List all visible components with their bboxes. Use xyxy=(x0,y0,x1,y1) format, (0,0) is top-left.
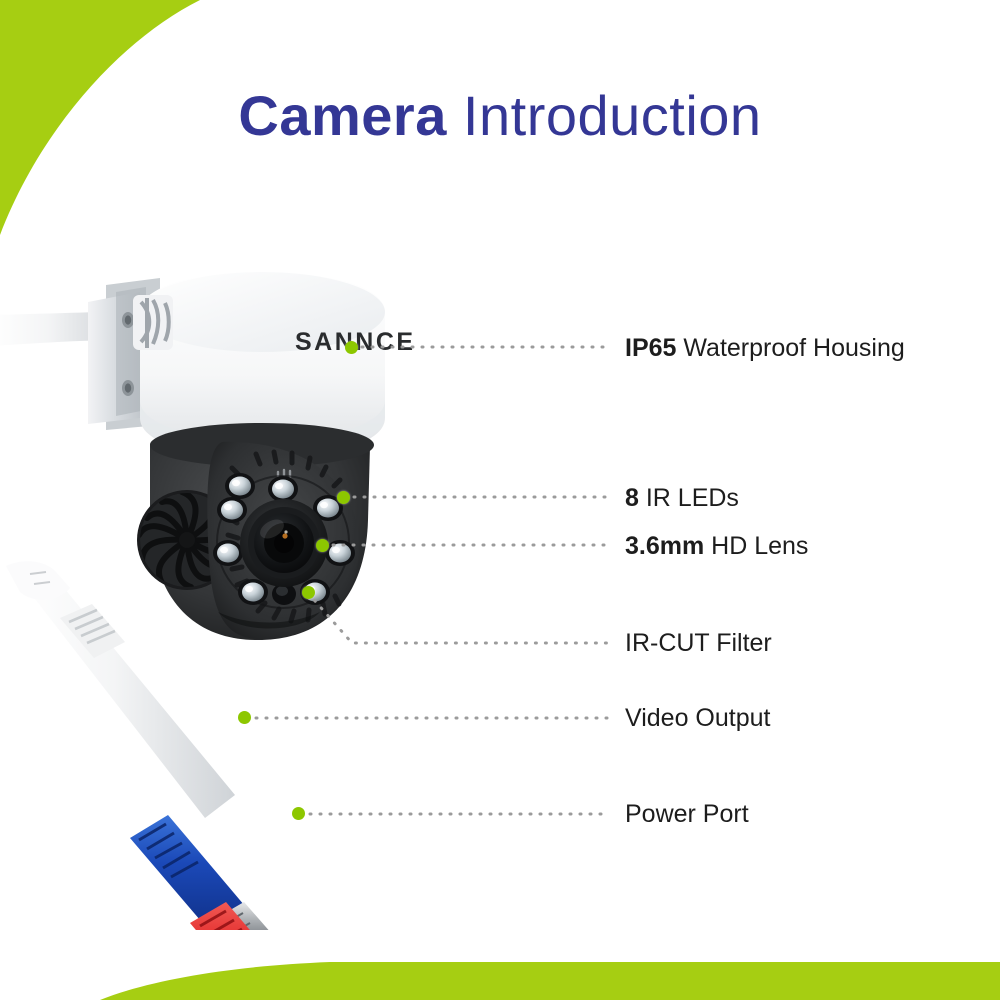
page-title: Camera Introduction xyxy=(0,84,1000,148)
callout-normal-video-output: Video Output xyxy=(625,704,770,732)
marker-dot-ip65 xyxy=(345,341,358,354)
callout-strong-ir-leds: 8 xyxy=(625,484,639,512)
callout-normal-hd-lens: HD Lens xyxy=(704,532,808,560)
video-output-connector xyxy=(130,815,272,930)
callout-label-ir-leds: 8 IR LEDs xyxy=(625,483,739,513)
callout-normal-ir-leds: IR LEDs xyxy=(639,484,739,512)
callout-label-ir-cut-filter: IR-CUT Filter xyxy=(625,628,772,658)
housing-vent xyxy=(133,295,173,350)
marker-dot-ir-leds xyxy=(337,491,350,504)
callout-normal-ir-cut: IR-CUT Filter xyxy=(625,629,772,657)
marker-dot-hd-lens xyxy=(316,539,329,552)
camera-black-body xyxy=(137,423,374,640)
callout-strong-ip65: IP65 xyxy=(625,334,676,362)
callout-label-ip65-waterproof-housing: IP65 Waterproof Housing xyxy=(625,333,905,363)
camera-introduction-infographic: Camera Introduction xyxy=(0,0,1000,1000)
callout-normal-power-port: Power Port xyxy=(625,800,749,828)
marker-dot-power-port xyxy=(292,807,305,820)
camera-lens xyxy=(240,499,328,587)
callout-label-power-port: Power Port xyxy=(625,799,749,829)
marker-dot-video-output xyxy=(238,711,251,724)
page-title-regular: Introduction xyxy=(447,84,762,147)
camera-illustration: SANNCE xyxy=(0,240,510,930)
callout-label-hd-lens: 3.6mm HD Lens xyxy=(625,531,808,561)
bottom-left-green-wave xyxy=(0,962,1000,1000)
marker-dot-ir-cut xyxy=(302,586,315,599)
callout-label-video-output: Video Output xyxy=(625,703,770,733)
callout-strong-hd-lens: 3.6mm xyxy=(625,532,704,560)
callout-normal-ip65: Waterproof Housing xyxy=(676,334,904,362)
page-title-bold: Camera xyxy=(238,84,446,147)
